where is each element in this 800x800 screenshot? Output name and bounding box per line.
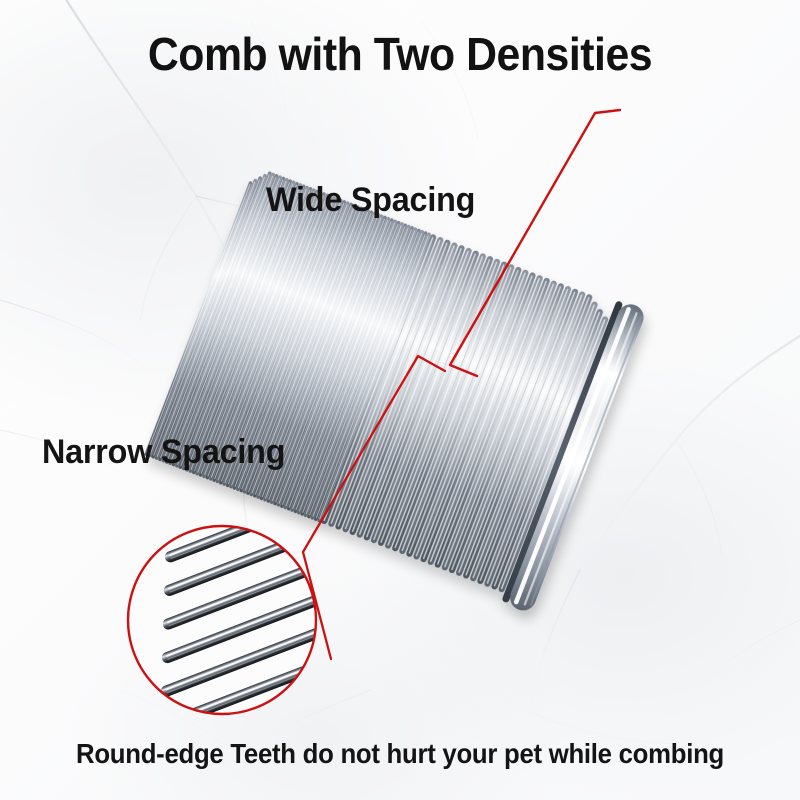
page-title: Comb with Two Densities [28, 26, 772, 82]
narrow-spacing-label: Narrow Spacing [42, 430, 285, 474]
product-infographic: Comb with Two Densities Wide Spacing Nar… [0, 0, 800, 800]
magnifier-detail [0, 0, 800, 800]
wide-spacing-label: Wide Spacing [266, 178, 475, 222]
feature-caption: Round-edge Teeth do not hurt your pet wh… [32, 735, 768, 773]
